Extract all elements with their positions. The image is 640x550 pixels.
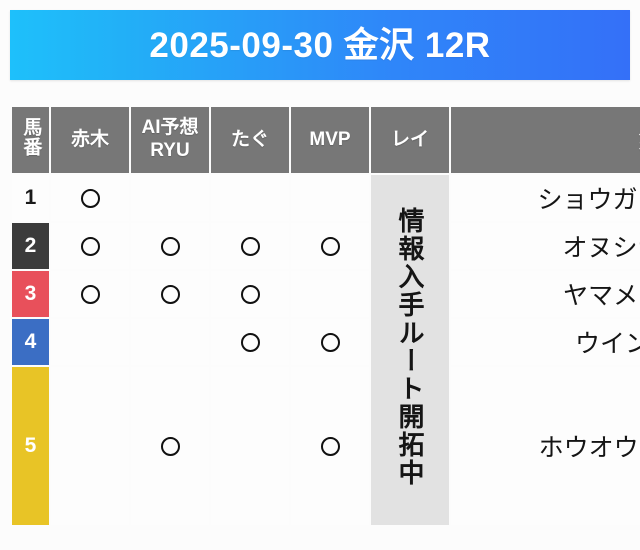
prediction-mark-ai-ryu xyxy=(131,367,209,525)
circle-mark-icon xyxy=(321,237,340,256)
circle-mark-icon xyxy=(161,237,180,256)
horse-name-cell: ヤマメクィーン xyxy=(451,271,640,317)
horse-name-cell: オヌシナニモノ xyxy=(451,223,640,269)
prediction-mark-akagi xyxy=(51,367,129,525)
circle-mark-icon xyxy=(321,333,340,352)
prediction-mark-ai-ryu xyxy=(131,271,209,317)
prediction-table-container: 馬番 赤木 AI予想 RYU たぐ MVP xyxy=(10,105,640,535)
table-body: 1情報入手ルート開拓中ショウガフクキタル2オヌシナニモノ3ヤマメクィーン4ウイン… xyxy=(12,175,640,525)
circle-mark-icon xyxy=(241,237,260,256)
horse-name-cell: ショウガフクキタル xyxy=(451,175,640,221)
prediction-mark-akagi xyxy=(51,271,129,317)
column-header-ai-ryu-line2: RYU xyxy=(131,140,209,163)
column-header-akagi: 赤木 xyxy=(51,107,129,173)
horse-number-cell: 2 xyxy=(12,223,49,269)
prediction-mark-tagu xyxy=(211,271,289,317)
prediction-mark-mvp xyxy=(291,271,369,317)
horse-name-text: ホウオウジュレッジ xyxy=(451,428,640,464)
column-header-horse-name-label: 馬名 xyxy=(635,117,640,157)
prediction-mark-tagu xyxy=(211,319,289,365)
column-header-rei-label: レイ xyxy=(391,129,429,150)
column-header-tagu: たぐ xyxy=(211,107,289,173)
prediction-mark-tagu xyxy=(211,223,289,269)
prediction-mark-mvp xyxy=(291,223,369,269)
circle-mark-icon xyxy=(241,285,260,304)
prediction-mark-ai-ryu xyxy=(131,175,209,221)
horse-name-text: ウインコマチ xyxy=(451,324,640,360)
circle-mark-icon xyxy=(81,285,100,304)
prediction-mark-ai-ryu xyxy=(131,223,209,269)
horse-name-text: ヤマメクィーン xyxy=(451,276,640,312)
rei-status-cell: 情報入手ルート開拓中 xyxy=(371,175,449,525)
column-header-horse-number-label: 馬番 xyxy=(20,117,42,157)
prediction-mark-akagi xyxy=(51,223,129,269)
horse-name-text: オヌシナニモノ xyxy=(451,228,640,264)
table-row: 3ヤマメクィーン xyxy=(12,271,640,317)
column-header-mvp-label: MVP xyxy=(309,129,350,150)
prediction-mark-ai-ryu xyxy=(131,319,209,365)
horse-number-cell: 1 xyxy=(12,175,49,221)
circle-mark-icon xyxy=(161,437,180,456)
prediction-mark-tagu xyxy=(211,367,289,525)
circle-mark-icon xyxy=(161,285,180,304)
horse-number-cell: 5 xyxy=(12,367,49,525)
column-header-tagu-label: たぐ xyxy=(231,129,269,150)
horse-number-cell: 3 xyxy=(12,271,49,317)
table-row: 1情報入手ルート開拓中ショウガフクキタル xyxy=(12,175,640,221)
horse-name-cell: ホウオウジュレッジ xyxy=(451,367,640,525)
circle-mark-icon xyxy=(81,237,100,256)
race-prediction-page: 2025-09-30 金沢 12R 馬番 赤木 xyxy=(0,0,640,550)
race-title-banner: 2025-09-30 金沢 12R xyxy=(10,10,630,80)
table-row: 2オヌシナニモノ xyxy=(12,223,640,269)
column-header-ai-ryu-line1: AI予想 xyxy=(131,117,209,140)
circle-mark-icon xyxy=(321,437,340,456)
prediction-mark-tagu xyxy=(211,175,289,221)
prediction-mark-mvp xyxy=(291,319,369,365)
table-row: 4ウインコマチ xyxy=(12,319,640,365)
column-header-ai-ryu: AI予想 RYU xyxy=(131,107,209,173)
circle-mark-icon xyxy=(241,333,260,352)
prediction-mark-mvp xyxy=(291,175,369,221)
horse-name-text: ショウガフクキタル xyxy=(451,180,640,216)
rei-status-text: 情報入手ルート開拓中 xyxy=(396,207,424,487)
horse-name-cell: ウインコマチ xyxy=(451,319,640,365)
column-header-rei: レイ xyxy=(371,107,449,173)
table-row: 5ホウオウジュレッジ xyxy=(12,367,640,525)
column-header-horse-name: 馬名 xyxy=(451,107,640,173)
horse-number-cell: 4 xyxy=(12,319,49,365)
circle-mark-icon xyxy=(81,189,100,208)
prediction-mark-akagi xyxy=(51,175,129,221)
column-header-mvp: MVP xyxy=(291,107,369,173)
prediction-mark-akagi xyxy=(51,319,129,365)
prediction-table: 馬番 赤木 AI予想 RYU たぐ MVP xyxy=(10,105,640,527)
column-header-akagi-label: 赤木 xyxy=(71,129,109,150)
table-header-row: 馬番 赤木 AI予想 RYU たぐ MVP xyxy=(12,107,640,173)
column-header-horse-number: 馬番 xyxy=(12,107,49,173)
prediction-mark-mvp xyxy=(291,367,369,525)
race-title-text: 2025-09-30 金沢 12R xyxy=(149,28,490,63)
